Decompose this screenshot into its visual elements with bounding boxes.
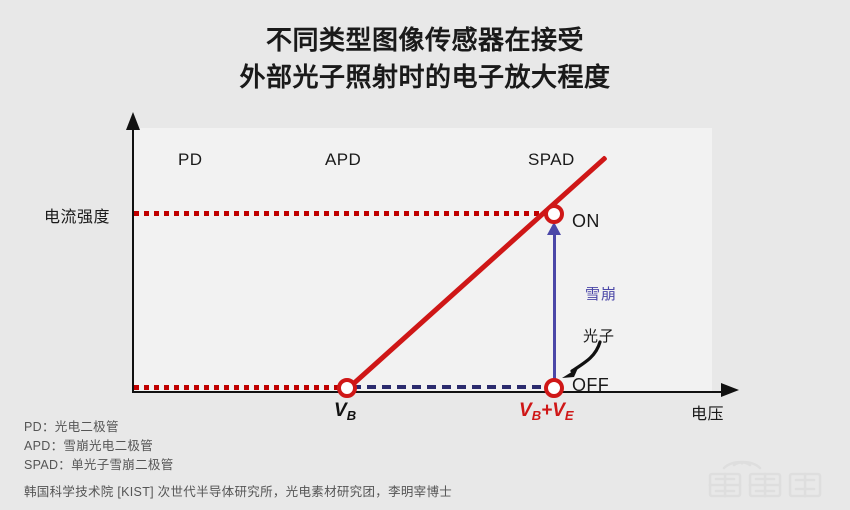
legend-list: PD：光电二极管 APD：雪崩光电二极管 SPAD：单光子雪崩二极管: [24, 418, 174, 475]
infographic-root: 不同类型图像传感器在接受 外部光子照射时的电子放大程度 PD APD SPAD …: [0, 0, 850, 510]
source-credit: 韩国科学技术院 [KIST] 次世代半导体研究所，光电素材研究团，李明宰博士: [24, 481, 452, 500]
xtick-label-vb-plus-ve: VB+VE: [519, 400, 574, 422]
breakdown-region-dashed-line: [352, 385, 555, 389]
region-label-pd: PD: [178, 150, 202, 170]
marker-on-point: [544, 204, 564, 224]
xtick-label-vb: VB: [334, 400, 356, 422]
chart-plot-area: [133, 128, 712, 392]
region-label-spad: SPAD: [528, 150, 575, 170]
baseline-dotted-line: [134, 385, 348, 390]
vbve-plus-sign: +: [541, 400, 552, 421]
y-axis-line: [132, 128, 134, 393]
state-label-on: ON: [572, 211, 600, 232]
y-axis-title: 电流强度: [44, 203, 110, 227]
legend-item-pd: PD：光电二极管: [24, 418, 174, 437]
vbve-subscript-2: E: [565, 408, 574, 423]
vb-subscript: B: [347, 408, 356, 423]
x-axis-title: 电压: [691, 400, 724, 424]
annotation-avalanche: 雪崩: [585, 283, 617, 304]
on-current-reference-line: [134, 211, 554, 216]
legend-item-apd: APD：雪崩光电二极管: [24, 437, 174, 456]
page-title: 不同类型图像传感器在接受 外部光子照射时的电子放大程度: [0, 22, 850, 96]
x-axis-arrow-icon: [721, 383, 739, 397]
vb-symbol: V: [334, 400, 347, 421]
region-label-apd: APD: [325, 150, 361, 170]
watermark-logo-icon: [700, 458, 840, 500]
marker-vb-point: [337, 378, 357, 398]
legend-item-spad: SPAD：单光子雪崩二极管: [24, 456, 174, 475]
y-axis-arrow-icon: [126, 112, 140, 130]
title-line-1: 不同类型图像传感器在接受: [0, 22, 850, 59]
vbve-subscript-1: B: [532, 408, 541, 423]
vbve-symbol-2: V: [552, 400, 565, 421]
photon-curved-arrow-icon: [556, 340, 602, 382]
title-line-2: 外部光子照射时的电子放大程度: [0, 59, 850, 96]
x-axis-line: [133, 391, 723, 393]
vbve-symbol-1: V: [519, 400, 532, 421]
